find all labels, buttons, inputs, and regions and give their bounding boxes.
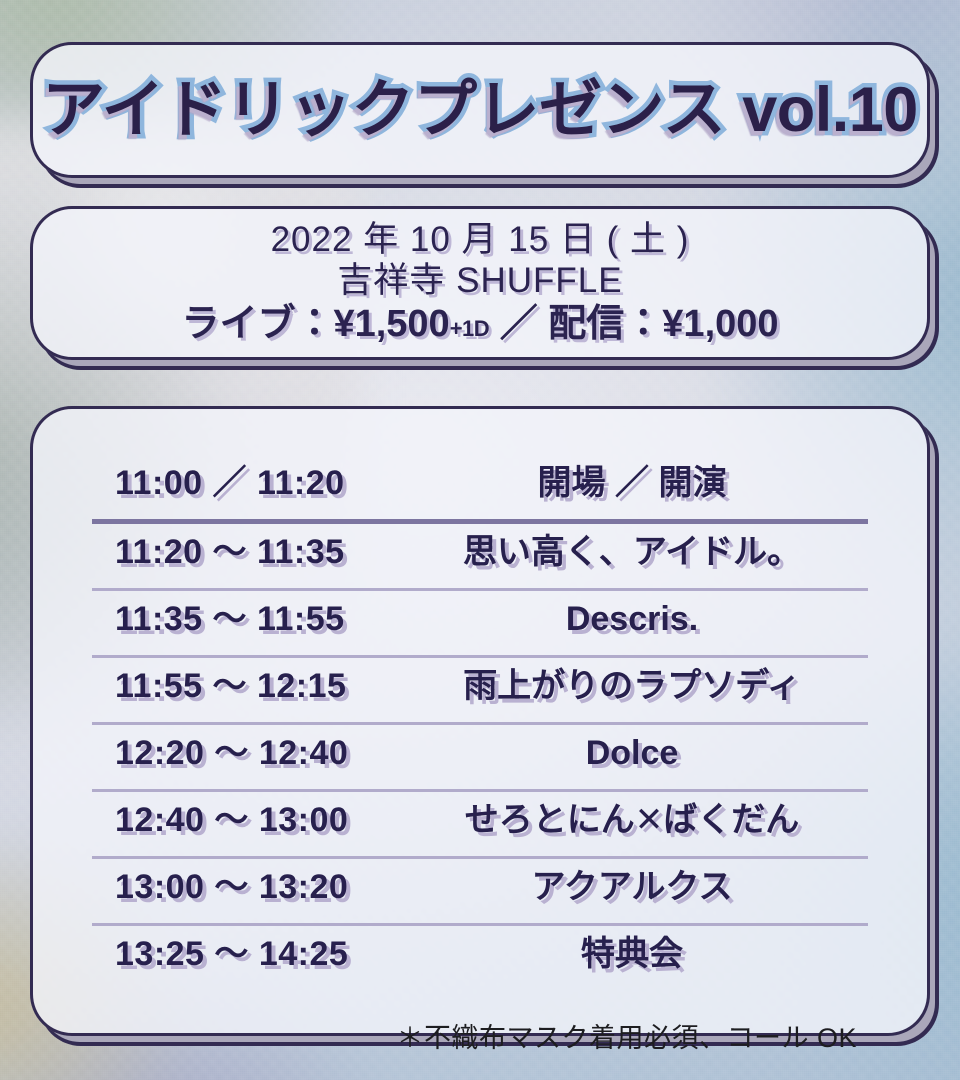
event-date: 2022 年 10 月 15 日 ( 土 )	[271, 220, 690, 261]
table-row: 11:55 〜 12:15雨上がりのラプソディ	[33, 658, 927, 722]
timetable-divider	[92, 923, 868, 926]
timetable-list: 11:00 ／ 11:20開場 ／ 開演11:20 〜 11:35思い高く、アイ…	[33, 455, 927, 990]
table-row: 12:20 〜 12:40Dolce	[33, 725, 927, 789]
price-live: ライブ：¥1,500	[181, 303, 449, 345]
timetable-act: Descris.	[393, 600, 927, 639]
table-row: 13:25 〜 14:25特典会	[33, 926, 927, 990]
price-stream: ／ 配信：¥1,000	[489, 303, 778, 345]
date-venue-panel: 2022 年 10 月 15 日 ( 土 ) 吉祥寺 SHUFFLE ライブ：¥…	[30, 206, 930, 360]
flyer-canvas: アイドリックプレゼンス vol.10 2022 年 10 月 15 日 ( 土 …	[0, 0, 960, 1080]
table-row: 11:35 〜 11:55Descris.	[33, 591, 927, 655]
price-drink-note: +1D	[450, 316, 489, 341]
timetable-time: 12:40 〜 13:00	[33, 792, 393, 841]
table-row: 11:00 ／ 11:20開場 ／ 開演	[33, 455, 927, 519]
title-panel: アイドリックプレゼンス vol.10	[30, 42, 930, 178]
timetable-time: 13:25 〜 14:25	[33, 926, 393, 975]
table-row: 11:20 〜 11:35思い高く、アイドル。	[33, 524, 927, 588]
event-price: ライブ：¥1,500+1D ／ 配信：¥1,000	[181, 302, 778, 346]
timetable-time: 11:35 〜 11:55	[33, 591, 393, 640]
timetable-divider	[92, 588, 868, 591]
table-row: 12:40 〜 13:00せろとにん✕ばくだん	[33, 792, 927, 856]
timetable-time: 11:00 ／ 11:20	[33, 455, 393, 504]
timetable-time: 11:55 〜 12:15	[33, 658, 393, 707]
timetable-time: 11:20 〜 11:35	[33, 524, 393, 573]
timetable-divider	[92, 519, 868, 524]
timetable-act: Dolce	[393, 734, 927, 773]
timetable-act: 開場 ／ 開演	[393, 455, 927, 504]
timetable-divider	[92, 856, 868, 859]
event-venue: 吉祥寺 SHUFFLE	[337, 261, 622, 302]
timetable-time: 12:20 〜 12:40	[33, 725, 393, 774]
event-title: アイドリックプレゼンス vol.10	[42, 79, 918, 142]
timetable-divider	[92, 722, 868, 725]
timetable-divider	[92, 655, 868, 658]
timetable-note: ＊不織布マスク着用必須、コール OK	[33, 1016, 927, 1055]
timetable-time: 13:00 〜 13:20	[33, 859, 393, 908]
timetable-act: アクアルクス	[393, 859, 927, 908]
timetable-act: 雨上がりのラプソディ	[393, 658, 927, 707]
timetable-divider	[92, 789, 868, 792]
timetable-act: 特典会	[393, 926, 927, 975]
timetable-panel: 11:00 ／ 11:20開場 ／ 開演11:20 〜 11:35思い高く、アイ…	[30, 406, 930, 1036]
timetable-act: 思い高く、アイドル。	[393, 524, 927, 573]
timetable-act: せろとにん✕ばくだん	[393, 792, 927, 841]
table-row: 13:00 〜 13:20アクアルクス	[33, 859, 927, 923]
